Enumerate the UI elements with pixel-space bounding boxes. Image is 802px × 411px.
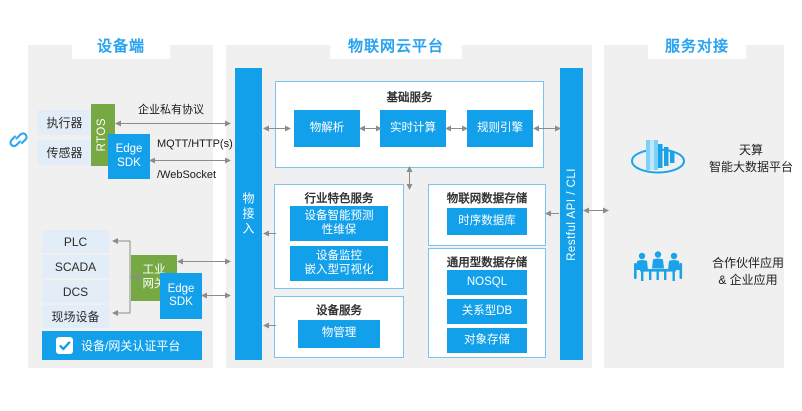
architecture-diagram: 设备端 物联网云平台 服务对接 执行器 传感器 RTOS Edge SDK 企业… xyxy=(0,0,802,411)
industry-service-item-1[interactable]: 设备监控 嵌入型可视化 xyxy=(290,246,388,281)
device-sensor[interactable]: 传感器 xyxy=(38,140,91,165)
industrial-field-device[interactable]: 现场设备 xyxy=(42,305,109,328)
industry-service-item-0[interactable]: 设备智能预测 性维保 xyxy=(290,206,388,241)
iot-storage-title: 物联网数据存储 xyxy=(428,190,546,206)
industrial-dcs[interactable]: DCS xyxy=(42,280,109,303)
arrow-ingress-to-basic xyxy=(262,123,292,134)
link-icon xyxy=(8,125,34,151)
arrow-basic-to-api xyxy=(532,123,562,134)
industrial-plc[interactable]: PLC xyxy=(42,230,109,253)
service-item-1-text: 合作伙伴应用 & 企业应用 xyxy=(692,255,802,290)
arrow-api-to-services xyxy=(583,205,609,216)
arrow-private-protocol xyxy=(114,118,232,129)
restful-api-cli-bar[interactable]: Restful API / CLI xyxy=(560,68,583,360)
check-icon xyxy=(56,337,73,354)
arrow-edgesdk-to-ingress xyxy=(200,290,232,301)
arrow-ingress-to-industry xyxy=(262,228,278,239)
panel-service-docking xyxy=(604,45,784,368)
general-storage-item-0[interactable]: NOSQL xyxy=(447,270,527,295)
service-item-0-text: 天算 智能大数据平台 xyxy=(696,142,802,177)
service-item-1-line1: 合作伙伴应用 xyxy=(692,255,802,272)
device-auth-platform-label: 设备/网关认证平台 xyxy=(81,337,180,354)
basic-service-item-0[interactable]: 物解析 xyxy=(294,110,360,147)
arrow-gateway-to-ingress xyxy=(176,256,232,267)
device-auth-platform-bar[interactable]: 设备/网关认证平台 xyxy=(42,331,202,360)
service-item-1-line2: & 企业应用 xyxy=(692,272,802,289)
panel-title-cloud: 物联网云平台 xyxy=(330,31,462,59)
ingress-bar-label: 物接入 xyxy=(240,192,257,237)
label-mqtt: MQTT/HTTP(s) xyxy=(157,138,233,150)
industry-service-title: 行业特色服务 xyxy=(274,190,404,206)
service-item-0-line2: 智能大数据平台 xyxy=(696,159,802,176)
arrow-basic-0-to-1 xyxy=(359,123,382,134)
arrow-storage-to-api xyxy=(545,208,563,219)
arrow-ingress-to-device-service xyxy=(262,320,278,331)
industrial-scada[interactable]: SCADA xyxy=(42,255,109,278)
device-actuator[interactable]: 执行器 xyxy=(38,110,91,135)
general-storage-item-2[interactable]: 对象存储 xyxy=(447,328,527,353)
device-service-title: 设备服务 xyxy=(274,302,404,318)
basic-service-title: 基础服务 xyxy=(275,89,544,105)
panel-title-services: 服务对接 xyxy=(648,31,746,59)
ingress-bar[interactable]: 物接入 xyxy=(235,68,262,360)
general-storage-title: 通用型数据存储 xyxy=(428,254,546,270)
general-storage-item-1[interactable]: 关系型DB xyxy=(447,299,527,324)
arrow-basic-to-lower xyxy=(404,166,415,190)
edge-sdk-box-bottom[interactable]: Edge SDK xyxy=(160,273,202,319)
arrow-mqtt-websocket xyxy=(148,155,232,166)
bracket-devices-to-gateway xyxy=(108,234,142,320)
service-item-0-line1: 天算 xyxy=(696,142,802,159)
panel-title-device: 设备端 xyxy=(72,31,170,59)
device-service-item-0[interactable]: 物管理 xyxy=(298,320,380,348)
iot-storage-item-0[interactable]: 时序数据库 xyxy=(447,208,527,235)
edge-sdk-box-top[interactable]: Edge SDK xyxy=(108,134,150,179)
label-websocket: /WebSocket xyxy=(157,169,216,181)
restful-api-cli-label: Restful API / CLI xyxy=(566,168,578,261)
label-private-protocol: 企业私有协议 xyxy=(138,101,204,117)
arrow-basic-1-to-2 xyxy=(445,123,468,134)
basic-service-item-1[interactable]: 实时计算 xyxy=(380,110,446,147)
basic-service-item-2[interactable]: 规则引擎 xyxy=(467,110,533,147)
bigdata-platform-icon xyxy=(629,133,687,179)
partner-meeting-icon xyxy=(632,250,684,284)
